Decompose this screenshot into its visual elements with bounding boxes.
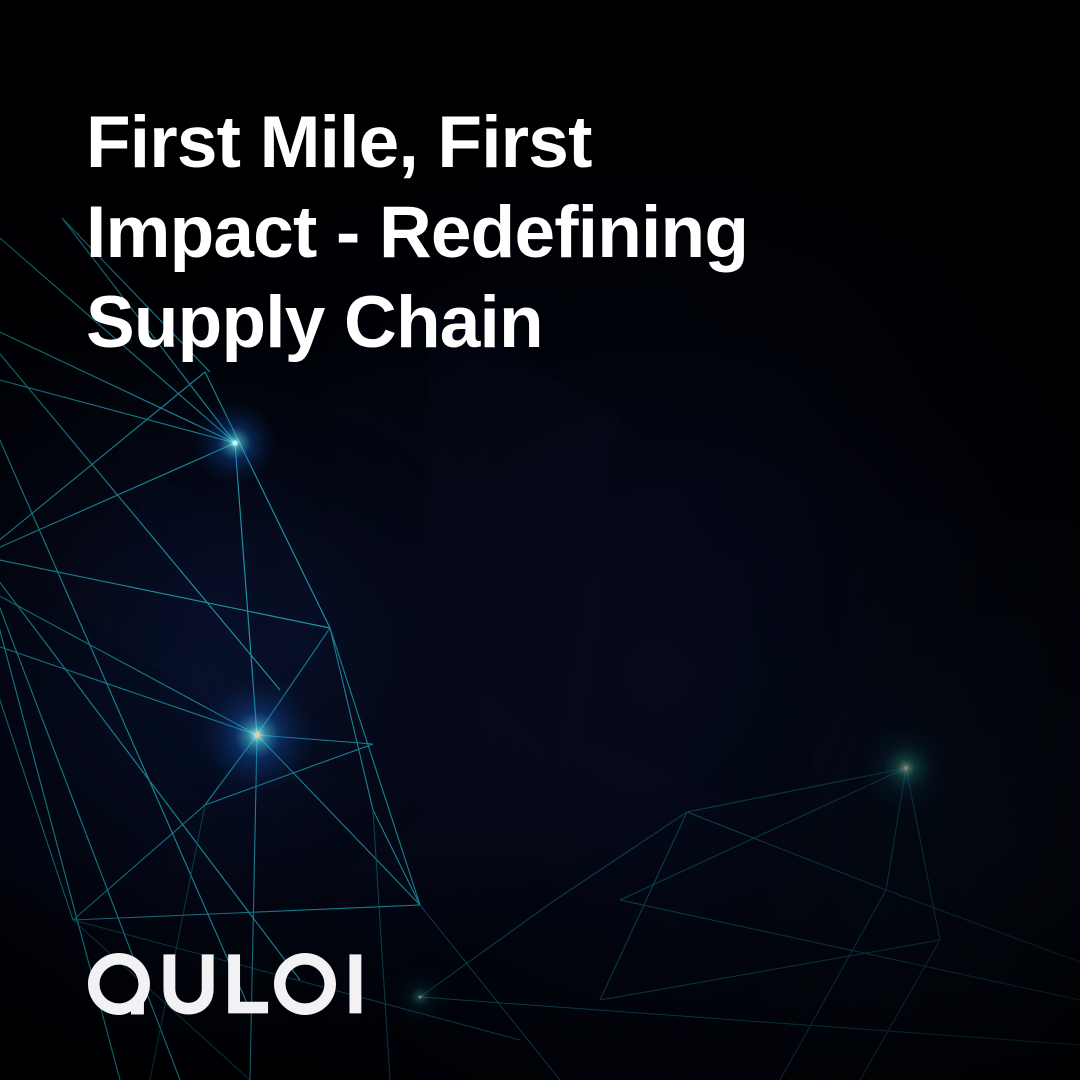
page-title: First Mile, First Impact - Redefining Su… [86, 98, 906, 368]
node-core-upper [232, 440, 237, 445]
node-core-center [255, 733, 260, 738]
background-facets [0, 300, 860, 930]
node-core-faint [419, 996, 422, 999]
social-card: First Mile, First Impact - Redefining Su… [0, 0, 1080, 1080]
node-core-right [904, 766, 908, 770]
quloi-logo [88, 953, 374, 1015]
